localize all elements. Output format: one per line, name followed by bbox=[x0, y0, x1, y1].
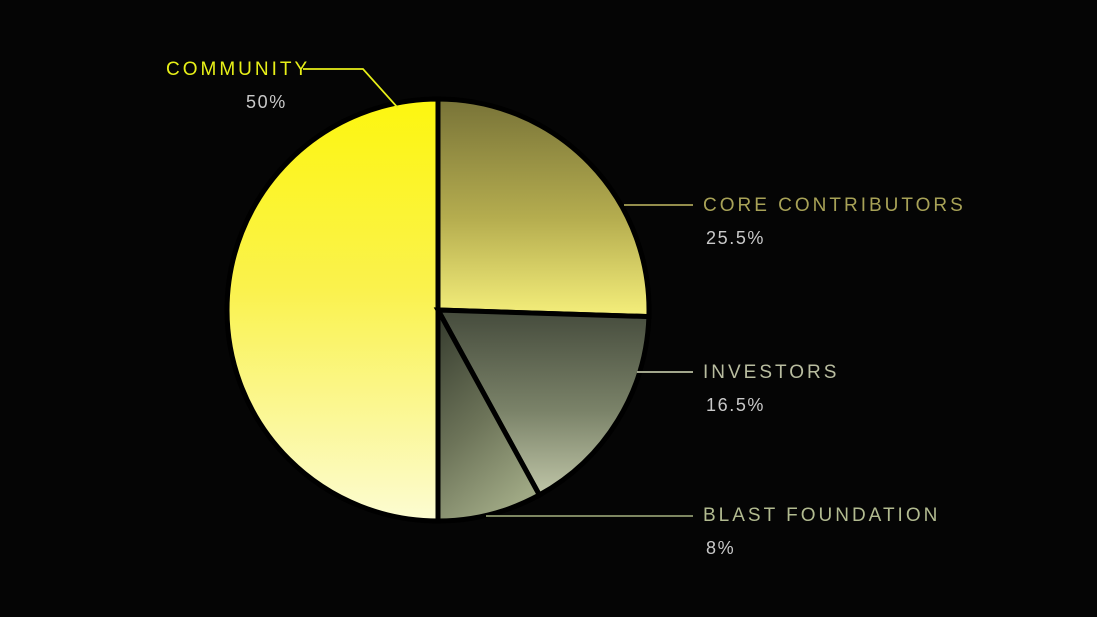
pie-label-community-name: COMMUNITY bbox=[166, 60, 310, 79]
leader-line-community bbox=[303, 69, 398, 108]
pie-label-investors-name: INVESTORS bbox=[703, 363, 839, 382]
pie-label-core-contributors[interactable]: CORE CONTRIBUTORS 25.5% bbox=[703, 196, 966, 247]
pie-label-blast-foundation[interactable]: BLAST FOUNDATION 8% bbox=[703, 506, 940, 557]
pie-label-core-contributors-value: 25.5% bbox=[706, 229, 966, 247]
pie-label-blast-foundation-value: 8% bbox=[706, 539, 940, 557]
pie-label-investors[interactable]: INVESTORS 16.5% bbox=[703, 363, 839, 414]
pie-label-investors-value: 16.5% bbox=[706, 396, 839, 414]
pie-label-blast-foundation-name: BLAST FOUNDATION bbox=[703, 506, 940, 525]
pie-label-core-contributors-name: CORE CONTRIBUTORS bbox=[703, 196, 966, 215]
pie-slice-core-contributors[interactable] bbox=[438, 99, 649, 317]
pie-slice-community[interactable] bbox=[227, 99, 438, 521]
pie-chart-container: COMMUNITY 50% CORE CONTRIBUTORS 25.5% IN… bbox=[0, 0, 1097, 617]
pie-label-community-value: 50% bbox=[246, 93, 310, 111]
pie-label-community[interactable]: COMMUNITY 50% bbox=[166, 60, 310, 111]
